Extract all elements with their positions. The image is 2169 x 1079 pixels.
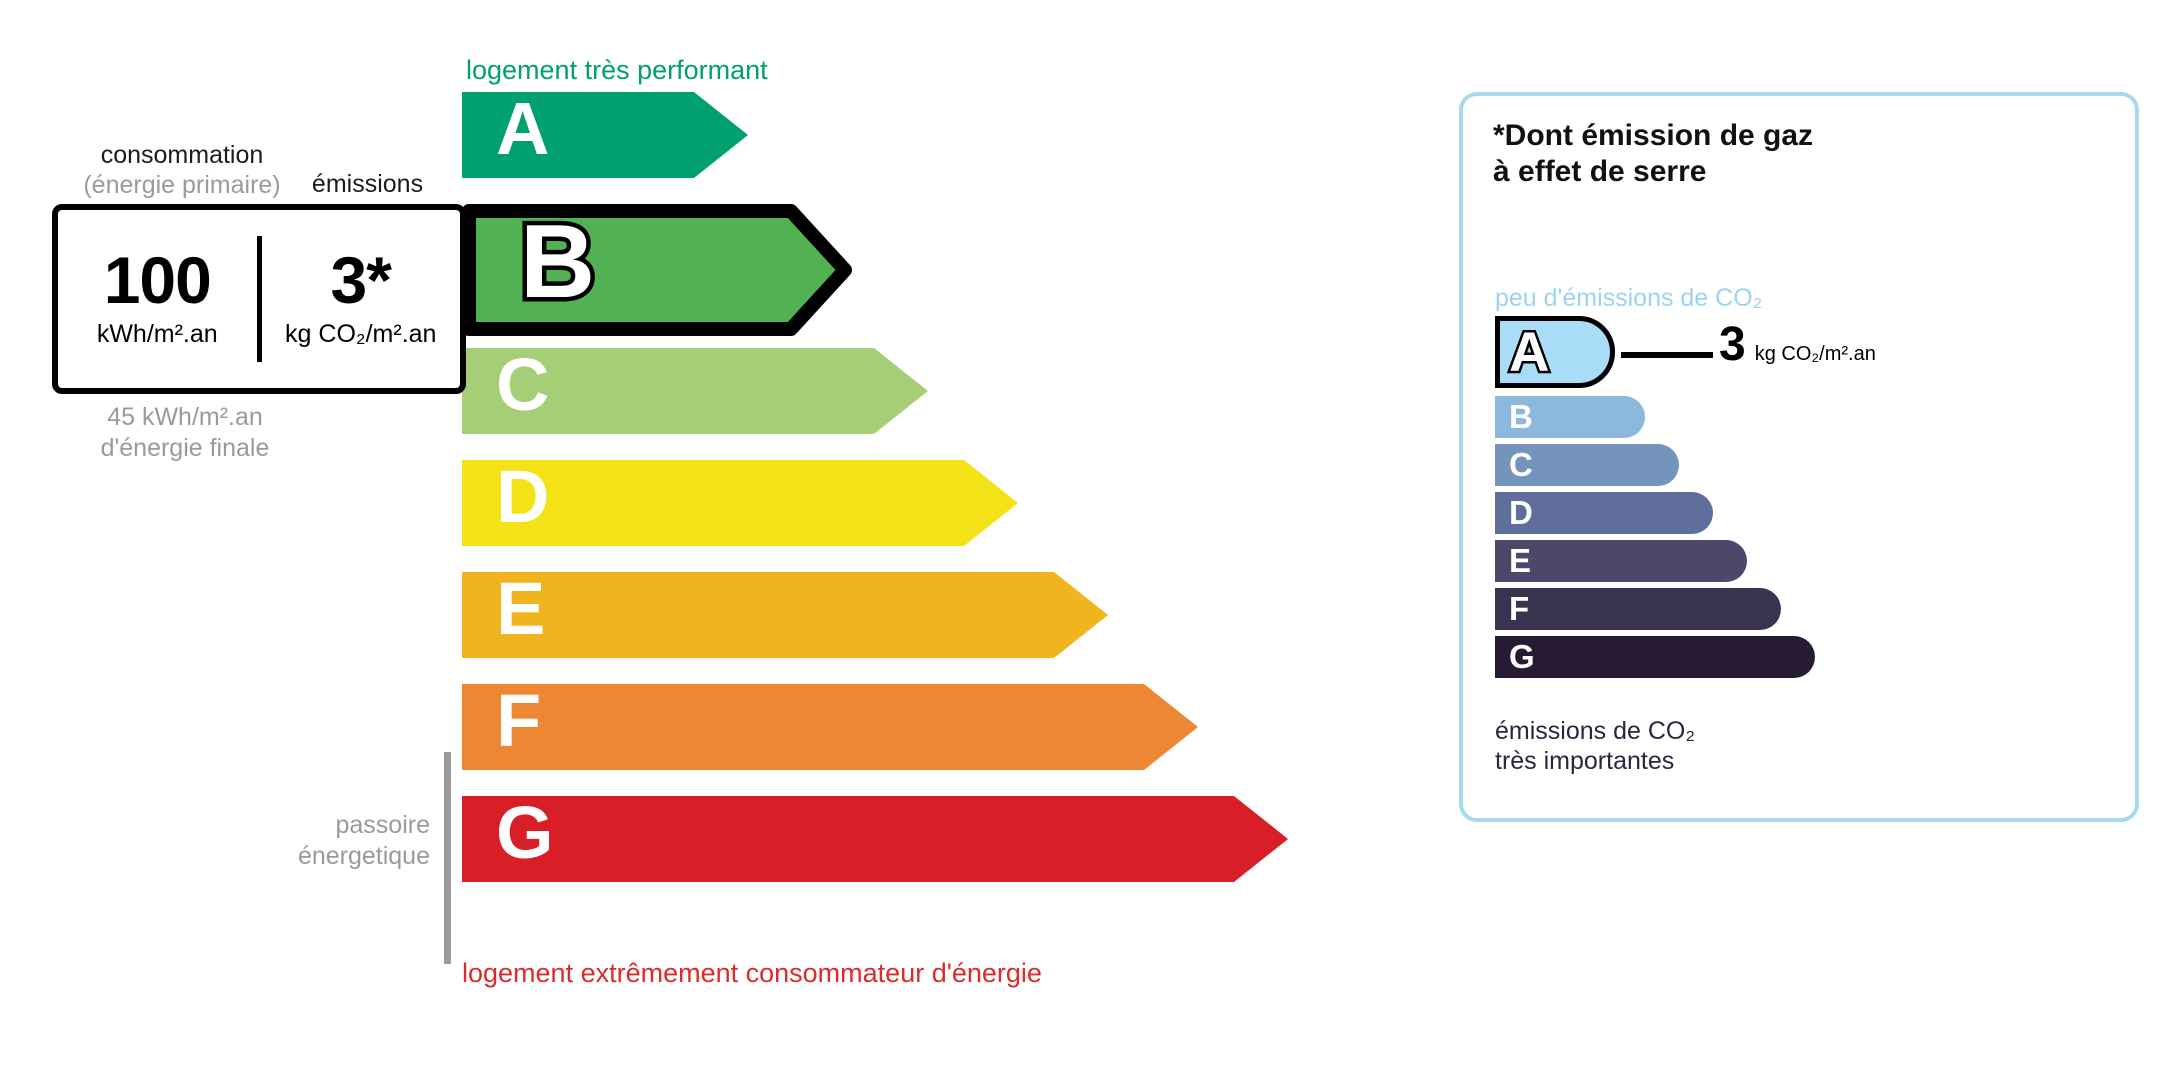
emission-readout: 3* kg CO₂/m².an: [262, 210, 461, 388]
co2-bottom-line2: très importantes: [1495, 746, 1695, 776]
arrow-letter-A: A: [496, 92, 549, 166]
energy-class-arrow-D: D: [462, 460, 1018, 546]
co2-bar-letter-E: E: [1509, 540, 1531, 582]
consumption-unit: kWh/m².an: [97, 318, 218, 350]
final-energy-value: 45 kWh/m².an: [60, 402, 310, 433]
co2-class-bar-B: B: [1495, 396, 1645, 438]
co2-bar-letter-F: F: [1509, 588, 1529, 630]
emissions-header: émissions: [300, 170, 435, 199]
consumption-header-line2: (énergie primaire): [62, 170, 302, 200]
co2-bar-letter-G: G: [1509, 636, 1535, 678]
co2-leader-line: [1621, 352, 1713, 358]
arrow-letter-E: E: [496, 572, 545, 646]
value-readout-box: 100 kWh/m².an 3* kg CO₂/m².an: [52, 204, 466, 394]
co2-bar-letter-D: D: [1509, 492, 1533, 534]
energy-class-arrow-F: F: [462, 684, 1198, 770]
bottom-performance-caption: logement extrêmement consommateur d'éner…: [462, 958, 1042, 989]
top-performance-caption: logement très performant: [466, 55, 768, 86]
energy-class-arrow-G: G: [462, 796, 1288, 882]
arrow-shape-G: [462, 796, 1288, 882]
co2-badge-letter: A: [1509, 320, 1549, 384]
consumption-readout: 100 kWh/m².an: [58, 210, 257, 388]
co2-class-bar-C: C: [1495, 444, 1679, 486]
co2-class-bar-D: D: [1495, 492, 1713, 534]
arrow-letter-D: D: [496, 460, 549, 534]
co2-class-bar-G: G: [1495, 636, 1815, 678]
emission-unit: kg CO₂/m².an: [285, 318, 436, 350]
co2-panel-title: *Dont émission de gaz à effet de serre: [1493, 118, 1813, 190]
consumption-value: 100: [104, 248, 211, 312]
co2-value: 3: [1719, 318, 1746, 372]
arrow-letter-B: B: [520, 210, 595, 314]
passoire-bracket: [444, 752, 451, 964]
arrow-shape-E: [462, 572, 1108, 658]
co2-current-class-badge: A: [1495, 316, 1615, 388]
final-energy-note: 45 kWh/m².an d'énergie finale: [60, 402, 310, 464]
greenhouse-gas-panel: *Dont émission de gaz à effet de serre p…: [1459, 92, 2139, 822]
co2-bottom-line1: émissions de CO₂: [1495, 716, 1695, 746]
co2-unit: kg CO₂/m².an: [1755, 343, 1876, 366]
consumption-header: consommation (énergie primaire): [62, 140, 302, 200]
co2-title-line1: *Dont émission de gaz: [1493, 118, 1813, 154]
passoire-energetique-label: passoire énergetique: [240, 810, 430, 872]
arrow-letter-G: G: [496, 796, 554, 870]
energy-class-arrow-E: E: [462, 572, 1108, 658]
consumption-header-line1: consommation: [62, 140, 302, 170]
co2-bar-letter-B: B: [1509, 396, 1533, 438]
emission-value: 3*: [331, 248, 391, 312]
co2-low-emissions-caption: peu d'émissions de CO₂: [1495, 284, 1762, 313]
energy-class-arrow-C: C: [462, 348, 928, 434]
passoire-line1: passoire: [240, 810, 430, 841]
co2-bar-letter-C: C: [1509, 444, 1533, 486]
arrow-shape-F: [462, 684, 1198, 770]
arrow-letter-C: C: [496, 348, 549, 422]
co2-value-readout: 3 kg CO₂/m².an: [1719, 318, 1876, 372]
co2-title-line2: à effet de serre: [1493, 154, 1813, 190]
energy-consumption-scale: logement très performant consommation (é…: [0, 0, 1380, 1079]
arrow-letter-F: F: [496, 684, 541, 758]
final-energy-label: d'énergie finale: [60, 433, 310, 464]
energy-class-arrow-A: A: [462, 92, 748, 178]
passoire-line2: énergetique: [240, 841, 430, 872]
co2-high-emissions-caption: émissions de CO₂ très importantes: [1495, 716, 1695, 776]
energy-class-arrows: ABCDEFG: [462, 92, 1262, 952]
co2-class-bars: BCDEFG: [1495, 396, 1915, 684]
co2-class-bar-F: F: [1495, 588, 1781, 630]
energy-class-arrow-B: B: [462, 204, 852, 336]
co2-class-bar-E: E: [1495, 540, 1747, 582]
